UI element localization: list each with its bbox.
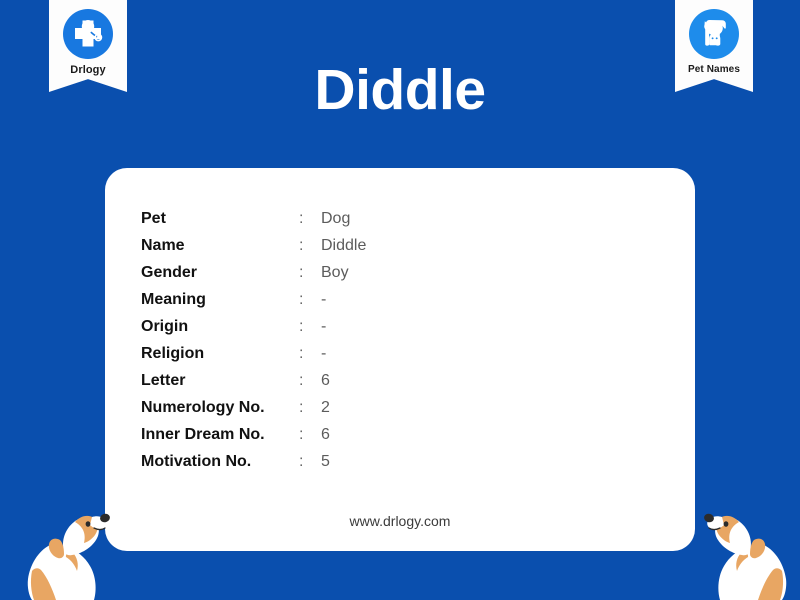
table-row: Meaning : - bbox=[141, 291, 366, 318]
row-separator: : bbox=[299, 372, 321, 390]
row-value: Diddle bbox=[321, 237, 366, 255]
row-value: 6 bbox=[321, 426, 330, 444]
row-label: Pet bbox=[141, 210, 299, 228]
row-label: Numerology No. bbox=[141, 399, 299, 417]
table-row: Origin : - bbox=[141, 318, 366, 345]
table-row: Gender : Boy bbox=[141, 264, 366, 291]
row-separator: : bbox=[299, 345, 321, 363]
row-value: 2 bbox=[321, 399, 330, 417]
table-row: Motivation No. : 5 bbox=[141, 453, 366, 480]
row-separator: : bbox=[299, 318, 321, 336]
row-separator: : bbox=[299, 210, 321, 228]
row-label: Meaning bbox=[141, 291, 299, 309]
table-row: Pet : Dog bbox=[141, 210, 366, 237]
row-label: Gender bbox=[141, 264, 299, 282]
pet-details-table: Pet : Dog Name : Diddle Gender : Boy Mea… bbox=[141, 210, 366, 480]
row-label: Motivation No. bbox=[141, 453, 299, 471]
row-separator: : bbox=[299, 453, 321, 471]
row-separator: : bbox=[299, 237, 321, 255]
row-separator: : bbox=[299, 264, 321, 282]
row-label: Name bbox=[141, 237, 299, 255]
row-label: Origin bbox=[141, 318, 299, 336]
sitting-dog-illustration bbox=[20, 493, 120, 600]
row-value: 5 bbox=[321, 453, 330, 471]
svg-text:P: P bbox=[97, 35, 100, 40]
row-separator: : bbox=[299, 291, 321, 309]
table-row: Name : Diddle bbox=[141, 237, 366, 264]
table-row: Religion : - bbox=[141, 345, 366, 372]
sitting-dog-illustration-mirrored bbox=[694, 493, 794, 600]
row-label: Letter bbox=[141, 372, 299, 390]
website-url: www.drlogy.com bbox=[105, 513, 695, 529]
table-row: Numerology No. : 2 bbox=[141, 399, 366, 426]
row-value: - bbox=[321, 345, 326, 363]
row-separator: : bbox=[299, 399, 321, 417]
row-value: 6 bbox=[321, 372, 330, 390]
dog-and-cat-icon bbox=[688, 8, 740, 60]
row-label: Religion bbox=[141, 345, 299, 363]
row-value: - bbox=[321, 318, 326, 336]
row-value: Boy bbox=[321, 264, 349, 282]
pet-name-info-card: Pet : Dog Name : Diddle Gender : Boy Mea… bbox=[105, 168, 695, 551]
row-label: Inner Dream No. bbox=[141, 426, 299, 444]
drlogy-medical-cross-doctor-icon: P bbox=[62, 8, 114, 60]
table-row: Inner Dream No. : 6 bbox=[141, 426, 366, 453]
table-row: Letter : 6 bbox=[141, 372, 366, 399]
page-title: Diddle bbox=[0, 62, 800, 119]
row-separator: : bbox=[299, 426, 321, 444]
row-value: - bbox=[321, 291, 326, 309]
row-value: Dog bbox=[321, 210, 350, 228]
